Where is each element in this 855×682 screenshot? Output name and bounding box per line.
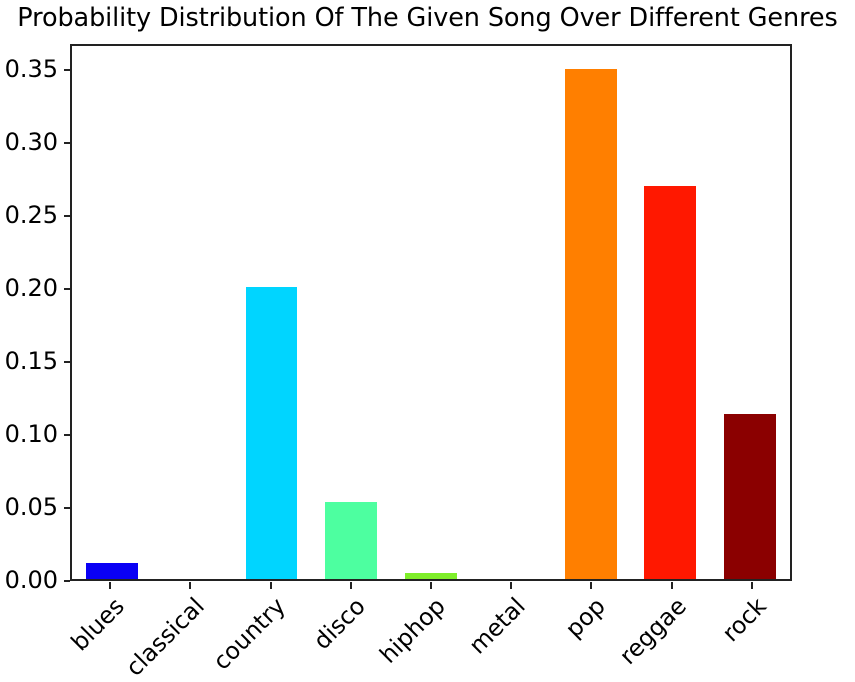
bar-blues[interactable] bbox=[86, 563, 138, 579]
x-tick-mark bbox=[270, 582, 272, 589]
x-tick-label-metal: metal bbox=[463, 592, 531, 660]
x-tick-label-pop: pop bbox=[560, 592, 611, 643]
x-tick-mark bbox=[510, 582, 512, 589]
x-tick-mark bbox=[590, 582, 592, 589]
x-tick-mark bbox=[350, 582, 352, 589]
bar-slot bbox=[232, 46, 312, 579]
x-tick-mark bbox=[751, 582, 753, 589]
y-tick-label: 0.10 bbox=[5, 420, 58, 448]
y-tick-mark bbox=[64, 361, 71, 363]
bar-slot bbox=[551, 46, 631, 579]
y-tick-label: 0.25 bbox=[5, 201, 58, 229]
y-tick-mark bbox=[64, 434, 71, 436]
y-tick-label: 0.20 bbox=[5, 274, 58, 302]
y-tick-mark bbox=[64, 142, 71, 144]
bar-slot bbox=[630, 46, 710, 579]
bar-slot bbox=[72, 46, 152, 579]
x-tick-mark bbox=[189, 582, 191, 589]
y-tick-label: 0.05 bbox=[5, 493, 58, 521]
x-tick-mark bbox=[671, 582, 673, 589]
chart-figure: Probability Distribution Of The Given So… bbox=[0, 0, 855, 682]
y-tick-mark bbox=[64, 215, 71, 217]
bar-slot bbox=[391, 46, 471, 579]
x-axis: bluesclassicalcountrydiscohiphopmetalpop… bbox=[70, 581, 792, 682]
bar-group bbox=[72, 46, 790, 579]
x-tick-label-reggae: reggae bbox=[613, 592, 691, 670]
x-tick-label-classical: classical bbox=[121, 592, 211, 682]
x-tick-label-country: country bbox=[207, 592, 290, 675]
x-tick-label-blues: blues bbox=[66, 592, 130, 656]
y-tick-label: 0.35 bbox=[5, 55, 58, 83]
plot-area bbox=[70, 44, 792, 581]
y-tick-label: 0.15 bbox=[5, 347, 58, 375]
bar-rock[interactable] bbox=[724, 414, 776, 579]
y-tick-label: 0.30 bbox=[5, 128, 58, 156]
y-tick-mark bbox=[64, 288, 71, 290]
bar-slot bbox=[152, 46, 232, 579]
x-tick-label-hiphop: hiphop bbox=[374, 592, 451, 669]
bar-slot bbox=[710, 46, 790, 579]
x-tick-mark bbox=[430, 582, 432, 589]
y-tick-mark bbox=[64, 507, 71, 509]
y-tick-label: 0.00 bbox=[5, 566, 58, 594]
x-tick-mark bbox=[109, 582, 111, 589]
bar-hiphop[interactable] bbox=[405, 573, 457, 579]
bar-slot bbox=[311, 46, 391, 579]
x-tick-label-rock: rock bbox=[716, 592, 771, 647]
y-tick-mark bbox=[64, 69, 71, 71]
bar-reggae[interactable] bbox=[644, 186, 696, 579]
bar-country[interactable] bbox=[246, 287, 298, 579]
bar-slot bbox=[471, 46, 551, 579]
x-tick-label-disco: disco bbox=[308, 592, 371, 655]
bar-disco[interactable] bbox=[325, 502, 377, 579]
bar-pop[interactable] bbox=[565, 69, 617, 579]
chart-title: Probability Distribution Of The Given So… bbox=[0, 4, 855, 33]
